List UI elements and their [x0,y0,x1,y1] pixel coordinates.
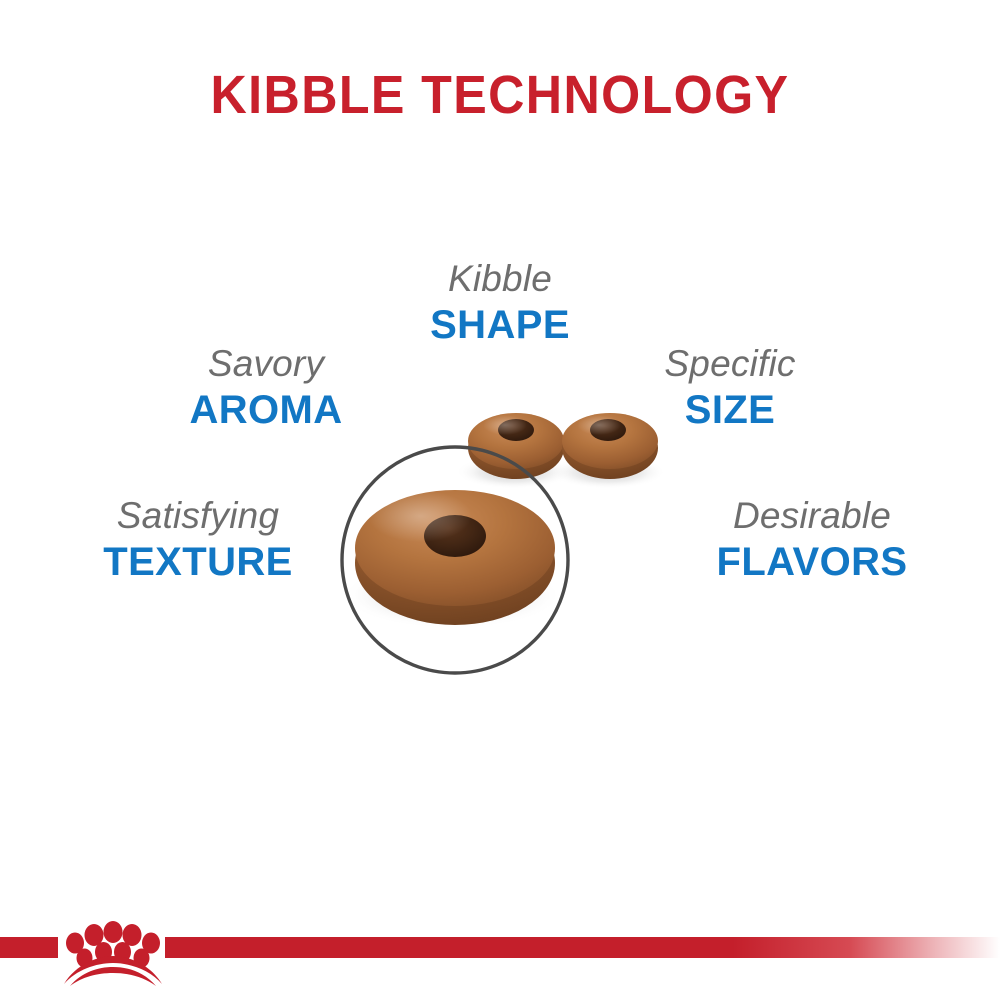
feature-kibble-shape: Kibble SHAPE [350,257,650,348]
royal-canin-crown-logo [58,908,168,988]
page-title: KIBBLE TECHNOLOGY [35,64,965,126]
small-kibble-left [468,413,564,479]
footer [0,908,1000,1000]
feature-adjective: Satisfying [48,494,348,538]
feature-specific-size: Specific SIZE [580,342,880,433]
feature-attribute: AROMA [116,387,416,433]
footer-bar-left [0,937,58,958]
feature-attribute: TEXTURE [48,539,348,585]
large-kibble [355,490,555,625]
crown-icon [58,908,168,988]
feature-adjective: Specific [580,342,880,386]
feature-desirable-flavors: Desirable FLAVORS [662,494,962,585]
footer-bar-right [165,937,1000,958]
feature-adjective: Kibble [350,257,650,301]
feature-attribute: FLAVORS [662,539,962,585]
feature-adjective: Savory [116,342,416,386]
poster-canvas: KIBBLE TECHNOLOGY [0,0,1000,1000]
feature-satisfying-texture: Satisfying TEXTURE [48,494,348,585]
feature-savory-aroma: Savory AROMA [116,342,416,433]
feature-adjective: Desirable [662,494,962,538]
feature-attribute: SIZE [580,387,880,433]
